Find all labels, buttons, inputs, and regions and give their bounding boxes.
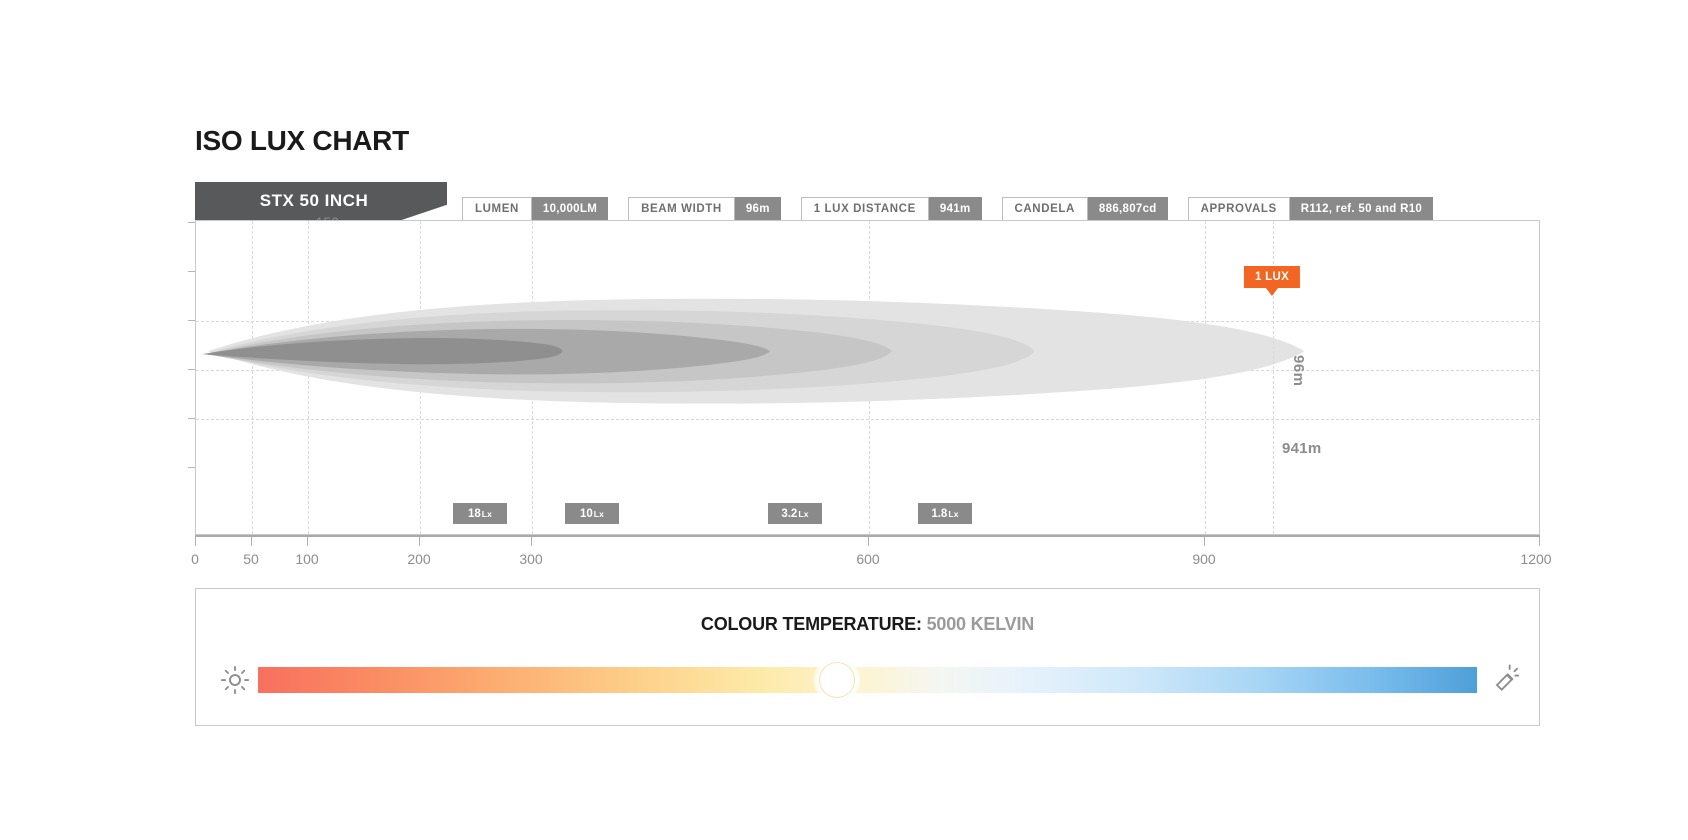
kelvin-gradient-bar-wrap[interactable] — [258, 667, 1477, 693]
spec-badge-lumen: LUMEN 10,000LM — [462, 197, 608, 221]
lux-tag-10: 10Lx — [565, 503, 619, 524]
page-title: ISO LUX CHART — [195, 125, 409, 157]
x-axis-tick — [1204, 537, 1205, 546]
one-lux-distance-label: 941m — [1282, 440, 1322, 457]
lux-tag-value: 1.8 — [931, 508, 947, 520]
x-axis-tick — [1539, 537, 1540, 546]
lux-tag-value: 18 — [468, 508, 481, 520]
kelvin-marker-glow — [813, 656, 861, 704]
torch-icon — [1487, 663, 1519, 695]
colour-temperature-label: COLOUR TEMPERATURE: — [701, 614, 922, 634]
product-tab-label: STX 50 INCH — [260, 191, 368, 211]
iso-lux-chart-page: ISO LUX CHART STX 50 INCH LUMEN 10,000LM… — [0, 0, 1688, 840]
spec-key: APPROVALS — [1188, 197, 1290, 221]
lux-tag-unit: Lx — [594, 509, 604, 519]
kelvin-gradient-bar[interactable] — [258, 667, 1477, 693]
spec-key: CANDELA — [1002, 197, 1088, 221]
lux-tag-1.8: 1.8Lx — [918, 503, 972, 524]
sun-icon — [220, 665, 250, 695]
spec-value: 96m — [735, 197, 781, 221]
x-axis-tick — [251, 537, 252, 546]
x-axis-tick — [868, 537, 869, 546]
x-axis-tick — [419, 537, 420, 546]
spec-key: LUMEN — [462, 197, 532, 221]
x-axis-tick — [195, 537, 196, 546]
x-axis-label-50: 50 — [243, 551, 259, 567]
plot-inner — [196, 221, 1539, 534]
spec-badge-beam-width: BEAM WIDTH 96m — [628, 197, 781, 221]
x-axis-tick — [531, 537, 532, 546]
one-lux-marker: 1 LUX — [1244, 266, 1300, 288]
x-axis-label-1200: 1200 — [1520, 551, 1551, 567]
beam-width-distance-label: 96m — [1290, 355, 1307, 387]
x-axis-tick — [307, 537, 308, 546]
colour-temperature-value: 5000 KELVIN — [927, 614, 1035, 634]
lux-tag-unit: Lx — [798, 509, 808, 519]
x-axis-label-300: 300 — [519, 551, 542, 567]
lux-tag-3.2: 3.2Lx — [768, 503, 822, 524]
colour-temperature-panel: COLOUR TEMPERATURE: 5000 KELVIN — [195, 588, 1540, 726]
lux-tag-18: 18Lx — [453, 503, 507, 524]
chart-plot-area — [195, 220, 1540, 535]
x-axis-label-900: 900 — [1192, 551, 1215, 567]
lux-tag-value: 3.2 — [781, 508, 797, 520]
spec-key: BEAM WIDTH — [628, 197, 735, 221]
beam-contours — [196, 221, 1539, 534]
spec-badge-row: LUMEN 10,000LM BEAM WIDTH 96m 1 LUX DIST… — [462, 197, 1433, 221]
lux-tag-value: 10 — [580, 508, 593, 520]
spec-value: R112, ref. 50 and R10 — [1290, 197, 1433, 221]
x-axis-label-600: 600 — [856, 551, 879, 567]
x-axis: 0 50 100 200 300 600 900 1200 — [195, 535, 1540, 537]
x-axis-label-0: 0 — [191, 551, 199, 567]
spec-value: 886,807cd — [1088, 197, 1168, 221]
colour-temperature-title: COLOUR TEMPERATURE: 5000 KELVIN — [196, 614, 1539, 635]
spec-badge-1-lux-distance: 1 LUX DISTANCE 941m — [801, 197, 982, 221]
spec-badge-candela: CANDELA 886,807cd — [1002, 197, 1168, 221]
x-axis-label-100: 100 — [295, 551, 318, 567]
spec-value: 10,000LM — [532, 197, 608, 221]
lux-tag-unit: Lx — [948, 509, 958, 519]
x-axis-label-200: 200 — [407, 551, 430, 567]
spec-badge-approvals: APPROVALS R112, ref. 50 and R10 — [1188, 197, 1434, 221]
one-lux-marker-label: 1 LUX — [1255, 271, 1289, 283]
spec-value: 941m — [929, 197, 982, 221]
lux-tag-unit: Lx — [482, 509, 492, 519]
spec-key: 1 LUX DISTANCE — [801, 197, 929, 221]
